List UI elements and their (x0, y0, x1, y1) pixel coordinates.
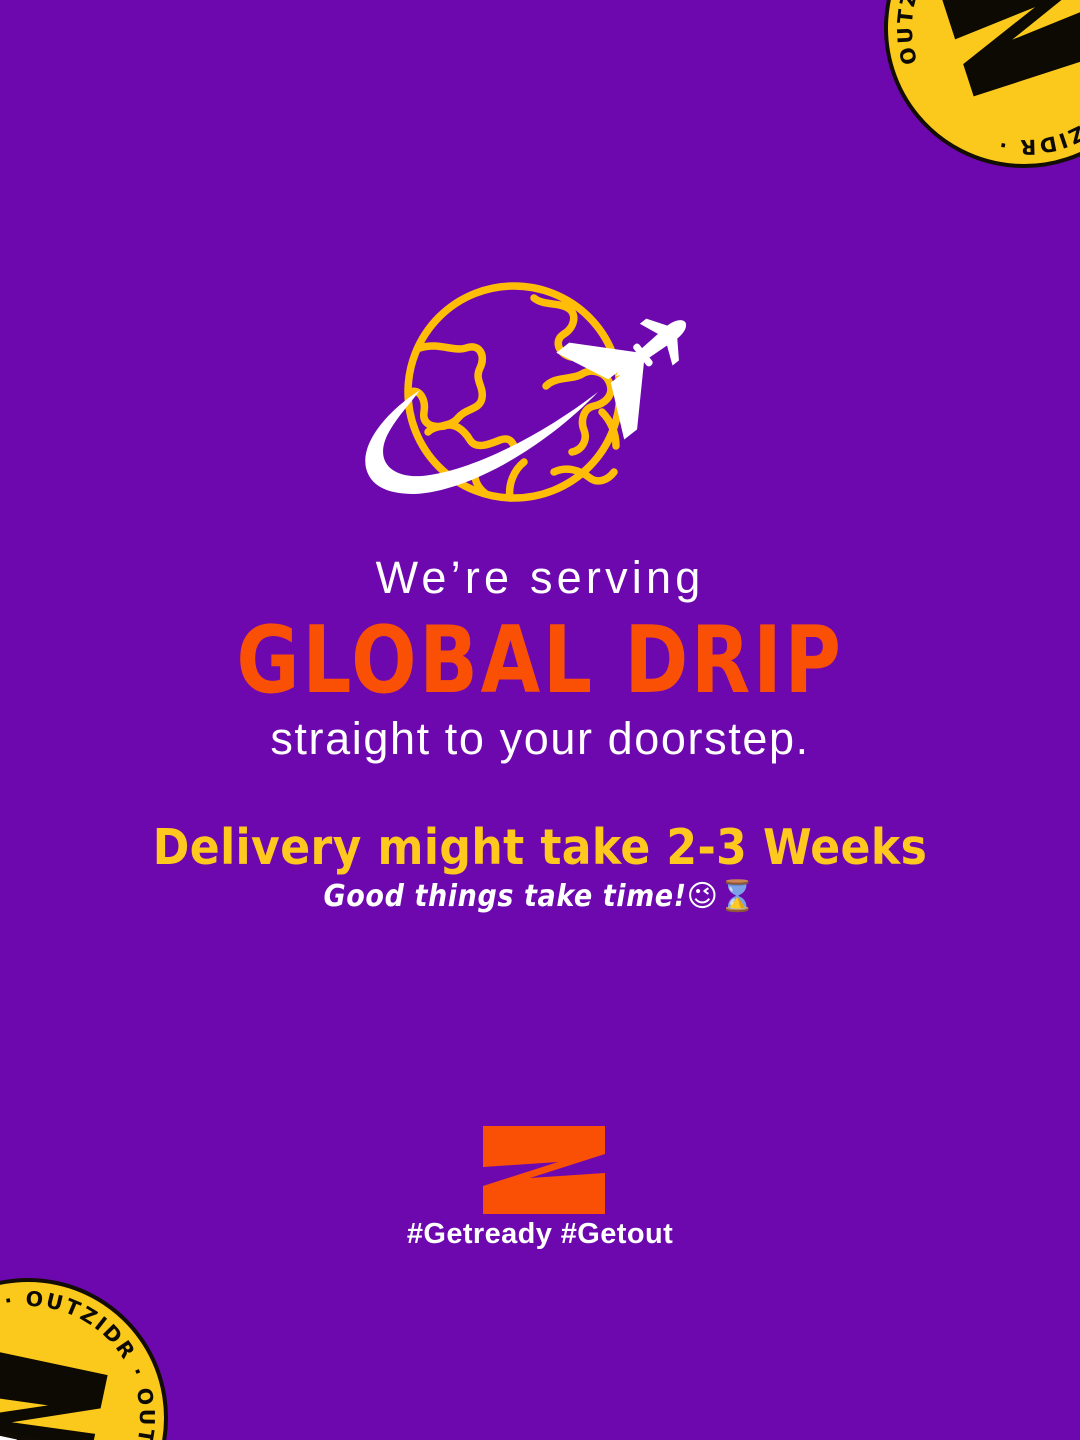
delivery-subnote: Good things take time!😉⌛ (0, 879, 1080, 915)
hashtags-text: #Getready #Getout (0, 1218, 1080, 1251)
footer-brand-logo (483, 1126, 605, 1214)
brand-badge-top-right: OUTZIDR · OUTZIDR · OUTZIDR · OUTZIDR · (848, 0, 1080, 204)
delivery-subnote-emoji: 😉⌛ (687, 879, 757, 914)
brand-badge-bottom-left: OUTZIDR · OUTZIDR · OUTZIDR · OUTZIDR · … (0, 1252, 194, 1440)
globe-icon (408, 286, 620, 498)
subhead-text: straight to your doorstep. (0, 713, 1080, 765)
z-logo-icon (483, 1126, 605, 1214)
delivery-note-text: Delivery might take 2-3 Weeks (0, 821, 1080, 875)
globe-airplane-illustration (358, 272, 718, 512)
eyebrow-text: We’re serving (0, 553, 1080, 603)
poster-canvas: OUTZIDR · OUTZIDR · OUTZIDR · OUTZIDR · … (0, 0, 1080, 1440)
globe-airplane-svg (358, 272, 718, 512)
headline-text: GLOBAL DRIP (43, 612, 1037, 710)
delivery-subnote-text: Good things take time! (324, 879, 687, 914)
